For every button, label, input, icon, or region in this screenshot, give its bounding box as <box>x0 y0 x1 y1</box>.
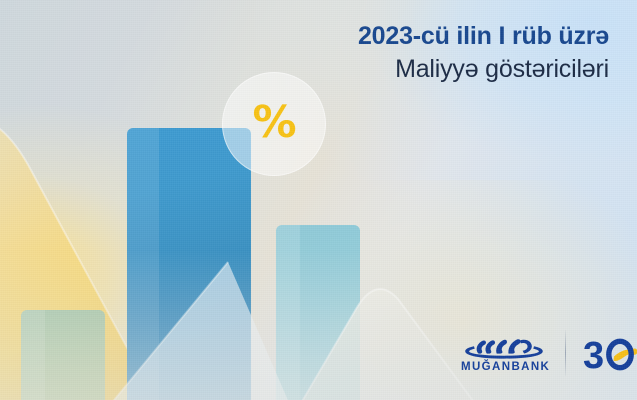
percent-icon: % <box>252 101 295 145</box>
logo-lockup: MUĞANBANK 3 <box>461 330 637 376</box>
promo-banner: % 2023-cü ilin I rüb üzrə Maliyyə göstər… <box>0 0 637 400</box>
headline-line-2: Maliyyə göstəriciləri <box>358 55 609 85</box>
muganbank-wordmark: MUĞANBANK <box>461 362 550 374</box>
muganbank-logo: MUĞANBANK <box>461 332 550 374</box>
anniversary-30-icon: 3 <box>581 331 637 375</box>
headline-block: 2023-cü ilin I rüb üzrə Maliyyə göstəric… <box>358 22 609 84</box>
logo-divider <box>565 330 566 376</box>
headline-line-1: 2023-cü ilin I rüb üzrə <box>358 22 609 52</box>
svg-text:3: 3 <box>583 335 604 375</box>
background-bottom-haze <box>0 250 637 400</box>
muganbank-crown-mark <box>462 332 550 360</box>
percent-badge: % <box>222 72 326 176</box>
